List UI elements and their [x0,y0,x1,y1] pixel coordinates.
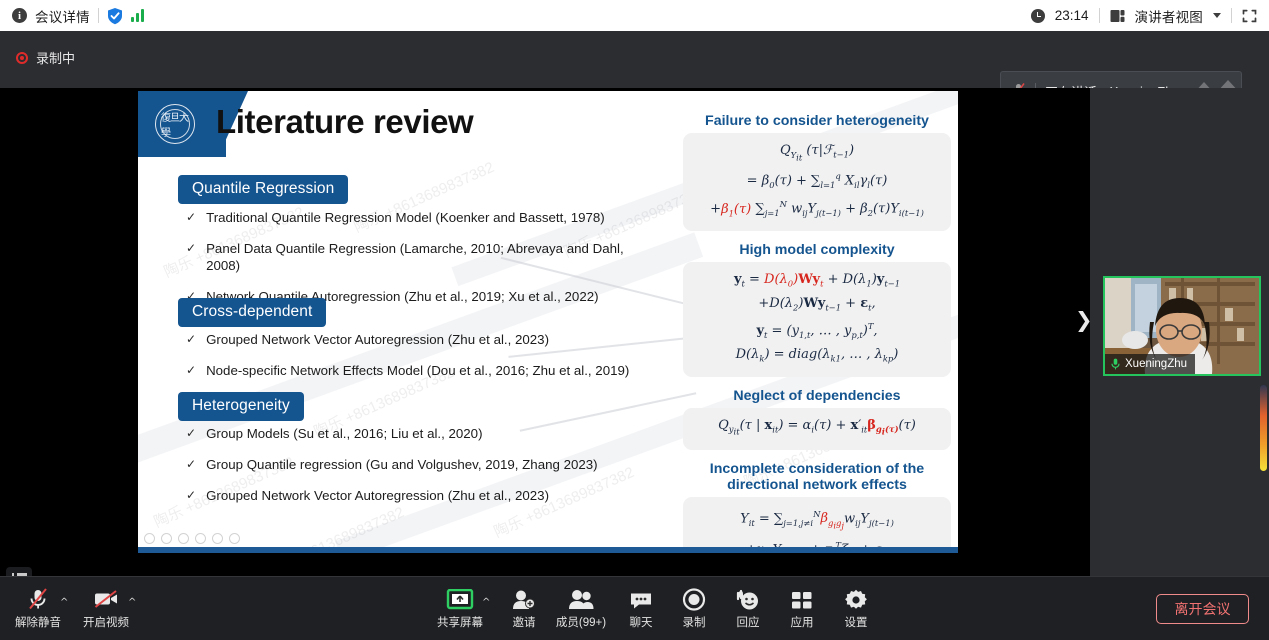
record-icon [682,585,706,611]
record-label: 录制 [683,614,706,630]
check-icon: ✓ [186,331,196,348]
slide-title: Literature review [216,103,473,141]
list-item-label: Group Models (Su et al., 2016; Liu et al… [206,425,482,442]
list-item-label: Panel Data Quantile Regression (Lamarche… [206,240,656,274]
info-icon[interactable]: i [12,8,27,23]
signal-bars-icon[interactable] [131,9,144,22]
issue-heading-heterogeneity: Failure to consider heterogeneity [683,113,951,129]
shared-screen-stage[interactable]: 陶乐 +8613689837382 陶乐 +8613689837382 陶乐 +… [0,88,1090,576]
mic-options-chevron-up-icon[interactable]: ^ [60,597,68,608]
check-icon: ✓ [186,209,196,226]
meeting-window: i 会议详情 23:14 演讲者视图 [0,0,1269,640]
list-item-label: Traditional Quantile Regression Model (K… [206,209,605,226]
chat-label: 聊天 [630,614,653,630]
settings-label: 设置 [845,614,868,630]
record-dot-icon [16,52,28,64]
apps-label: 应用 [791,614,814,630]
participant-name-badge: XueningZhu [1105,354,1195,374]
filmstrip-scrollbar[interactable] [1260,385,1267,471]
chevron-down-icon[interactable] [1213,13,1221,18]
slide-nav-icon[interactable] [229,533,240,544]
list-item-label: Grouped Network Vector Autoregression (Z… [206,331,549,348]
chat-icon [629,585,653,611]
logo-text: 復旦大學 [160,109,190,139]
mic-on-icon [1111,358,1120,370]
video-off-icon [93,585,119,611]
video-options-chevron-up-icon[interactable]: ^ [128,597,136,608]
recording-label: 录制中 [36,48,75,67]
settings-icon [845,585,867,611]
formula-block-heterogeneity: QYit (τ|ℱt−1) = β0(τ) + ∑l=1q Xilγl(τ) +… [683,133,951,231]
list-item-label: Group Quantile regression (Gu and Volgus… [206,456,598,473]
formula-block-dependencies: Qyit(τ | xit) = αi(τ) + x′itβgi(τ)(τ) [683,408,951,450]
section-chip-cross-dependent: Cross-dependent [178,298,326,327]
meeting-time: 23:14 [1055,8,1089,23]
section-chip-heterogeneity: Heterogeneity [178,392,304,421]
settings-button[interactable]: 设置 [824,585,888,630]
slide-nav-icon[interactable] [144,533,155,544]
slide-nav-icons[interactable] [144,533,240,544]
bullet-list-cross-dependent: ✓Grouped Network Vector Autoregression (… [186,331,656,393]
participants-button[interactable]: 成员(99+) [549,585,613,630]
bullet-list-heterogeneity: ✓Group Models (Su et al., 2016; Liu et a… [186,425,656,518]
recording-bar: 录制中 正在讲话: XueningZhu; [0,31,1269,88]
list-item: ✓Grouped Network Vector Autoregression (… [186,487,656,504]
check-icon: ✓ [186,362,196,379]
clock-icon [1031,9,1045,23]
issue-heading-directional: Incomplete consideration of the directio… [683,461,951,493]
shield-check-icon[interactable] [107,7,123,25]
slide-nav-icon[interactable] [195,533,206,544]
video-tile-xueningzhu[interactable]: XueningZhu [1103,276,1261,376]
slide-nav-icon[interactable] [212,533,223,544]
formula-block-complexity: yt = D(λ0)Wyt + D(λ1)yt−1 +D(λ2)Wyt−1 + … [683,262,951,377]
invite-icon [512,585,536,611]
meeting-details-label[interactable]: 会议详情 [35,6,90,26]
list-item: ✓Traditional Quantile Regression Model (… [186,209,656,226]
reaction-icon [735,585,761,611]
formula-block-directional: Yit = ∑j=1,j≠iNβgigjwijYj(t−1) +νgiYi(t−… [683,497,951,553]
invite-button[interactable]: 邀请 [492,585,556,630]
check-icon: ✓ [186,240,196,257]
divider [1099,8,1100,23]
divider [98,8,99,23]
issue-heading-complexity: High model complexity [683,242,951,258]
mic-muted-icon [27,585,49,611]
issues-column: Failure to consider heterogeneity QYit (… [683,113,951,553]
participants-icon [568,585,594,611]
issue-heading-dependencies: Neglect of dependencies [683,388,951,404]
list-item-label: Grouped Network Vector Autoregression (Z… [206,487,549,504]
speaker-view-icon [1110,9,1125,23]
participant-name: XueningZhu [1125,358,1187,370]
recording-indicator[interactable]: 录制中 [16,48,75,67]
list-item: ✓Group Quantile regression (Gu and Volgu… [186,456,656,473]
participant-filmstrip[interactable]: XueningZhu [1090,88,1269,576]
slide-accent-bar [138,547,958,553]
leave-meeting-button[interactable]: 离开会议 [1156,594,1249,624]
university-logo-icon: 復旦大學 [155,104,195,144]
share-options-chevron-up-icon[interactable]: ^ [482,597,490,608]
list-item: ✓Panel Data Quantile Regression (Lamarch… [186,240,656,274]
fullscreen-icon[interactable] [1242,9,1257,23]
view-mode-label[interactable]: 演讲者视图 [1135,6,1204,26]
check-icon: ✓ [186,456,196,473]
divider [1231,8,1232,23]
share-screen-icon [446,585,474,611]
list-item: ✓Group Models (Su et al., 2016; Liu et a… [186,425,656,442]
bottom-toolbar: 解除静音 ^ 开启视频 ^ 共享屏幕 [0,576,1269,640]
reaction-label: 回应 [737,614,760,630]
check-icon: ✓ [186,425,196,442]
check-icon: ✓ [186,487,196,504]
slide-nav-icon[interactable] [178,533,189,544]
section-chip-quantile-regression: Quantile Regression [178,175,348,204]
top-bar: i 会议详情 23:14 演讲者视图 [0,0,1269,31]
invite-label: 邀请 [513,614,536,630]
start-video-label: 开启视频 [83,614,129,630]
list-item: ✓Node-specific Network Effects Model (Do… [186,362,656,379]
unmute-label: 解除静音 [15,614,61,630]
presentation-slide: 陶乐 +8613689837382 陶乐 +8613689837382 陶乐 +… [138,91,958,553]
participants-label: 成员(99+) [556,614,606,630]
share-screen-label: 共享屏幕 [437,614,483,630]
list-item: ✓Grouped Network Vector Autoregression (… [186,331,656,348]
apps-icon [791,585,813,611]
list-item-label: Node-specific Network Effects Model (Dou… [206,362,629,379]
slide-nav-icon[interactable] [161,533,172,544]
